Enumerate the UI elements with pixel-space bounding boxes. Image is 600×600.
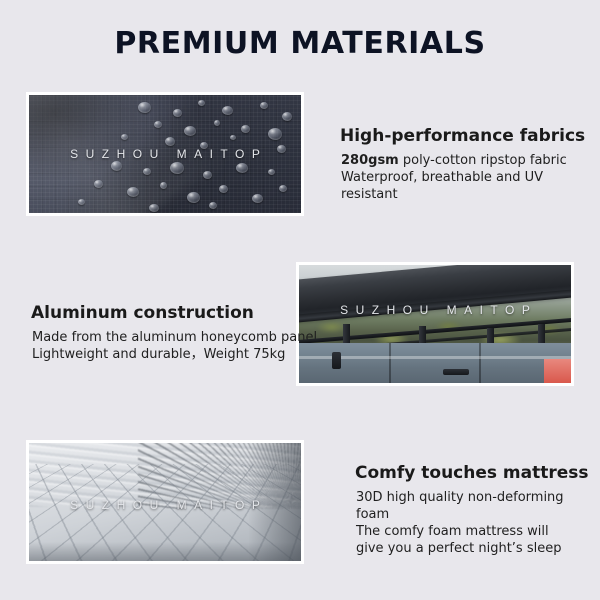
water-droplet-icon bbox=[160, 182, 167, 189]
feature-body-fabrics: 280gsm poly-cotton ripstop fabric Waterp… bbox=[341, 152, 600, 203]
fabric-photo-watermark: SUZHOU MAITOP bbox=[29, 147, 301, 161]
water-droplet-icon bbox=[236, 163, 248, 173]
water-droplet-icon bbox=[111, 161, 122, 171]
water-droplet-icon bbox=[154, 121, 162, 128]
water-droplet-icon bbox=[149, 204, 159, 212]
water-droplet-icon bbox=[94, 180, 103, 188]
vehicle-door-handle bbox=[332, 352, 341, 369]
vehicle-panel-seam bbox=[479, 343, 481, 383]
water-droplet-icon bbox=[252, 194, 263, 203]
water-droplet-icon bbox=[214, 120, 220, 126]
water-droplet-icon bbox=[78, 199, 85, 205]
water-droplet-icon bbox=[203, 171, 212, 179]
feature-body-mattress: 30D high quality non-deforming foam The … bbox=[356, 489, 600, 557]
feature-heading-fabrics: High-performance fabrics bbox=[340, 126, 585, 146]
water-droplet-icon bbox=[222, 106, 233, 115]
water-droplet-icon bbox=[198, 100, 205, 106]
water-droplet-icon bbox=[127, 187, 139, 197]
fabric-photo: SUZHOU MAITOP bbox=[26, 92, 304, 216]
roof-rack-photo-watermark: SUZHOU MAITOP bbox=[299, 303, 571, 317]
fabric-body-line1: poly-cotton ripstop fabric bbox=[399, 153, 567, 168]
fabric-body-line2: Waterproof, breathable and UV resistant bbox=[341, 170, 543, 202]
feature-body-aluminum: Made from the aluminum honeycomb panel L… bbox=[32, 329, 317, 363]
mattress-photo: SUZHOU MAITOP bbox=[26, 440, 304, 564]
mattress-photo-watermark: SUZHOU MAITOP bbox=[29, 498, 301, 512]
fabric-gsm-value: 280gsm bbox=[341, 153, 399, 168]
water-droplet-icon bbox=[279, 185, 287, 192]
roof-rack-photo-inner: SUZHOU MAITOP bbox=[299, 265, 571, 383]
feature-heading-mattress: Comfy touches mattress bbox=[355, 463, 589, 483]
fabric-photo-inner: SUZHOU MAITOP bbox=[29, 95, 301, 213]
mattress-shadow-bottom bbox=[29, 542, 301, 561]
mattress-photo-inner: SUZHOU MAITOP bbox=[29, 443, 301, 561]
water-droplet-icon bbox=[187, 192, 200, 203]
vehicle-trim bbox=[443, 369, 469, 375]
feature-heading-aluminum: Aluminum construction bbox=[31, 303, 254, 323]
infographic-page: { "page": { "title": "PREMIUM MATERIALS"… bbox=[0, 0, 600, 600]
roof-rack-photo: SUZHOU MAITOP bbox=[296, 262, 574, 386]
water-droplet-icon bbox=[184, 126, 196, 136]
water-droplet-icon bbox=[282, 112, 292, 121]
vehicle-panel-seam bbox=[389, 343, 391, 383]
water-droplet-icon bbox=[219, 185, 228, 193]
vehicle-tail-light bbox=[544, 359, 571, 383]
page-title: PREMIUM MATERIALS bbox=[0, 26, 600, 61]
water-droplet-icon bbox=[241, 125, 250, 133]
water-droplet-icon bbox=[138, 102, 151, 113]
